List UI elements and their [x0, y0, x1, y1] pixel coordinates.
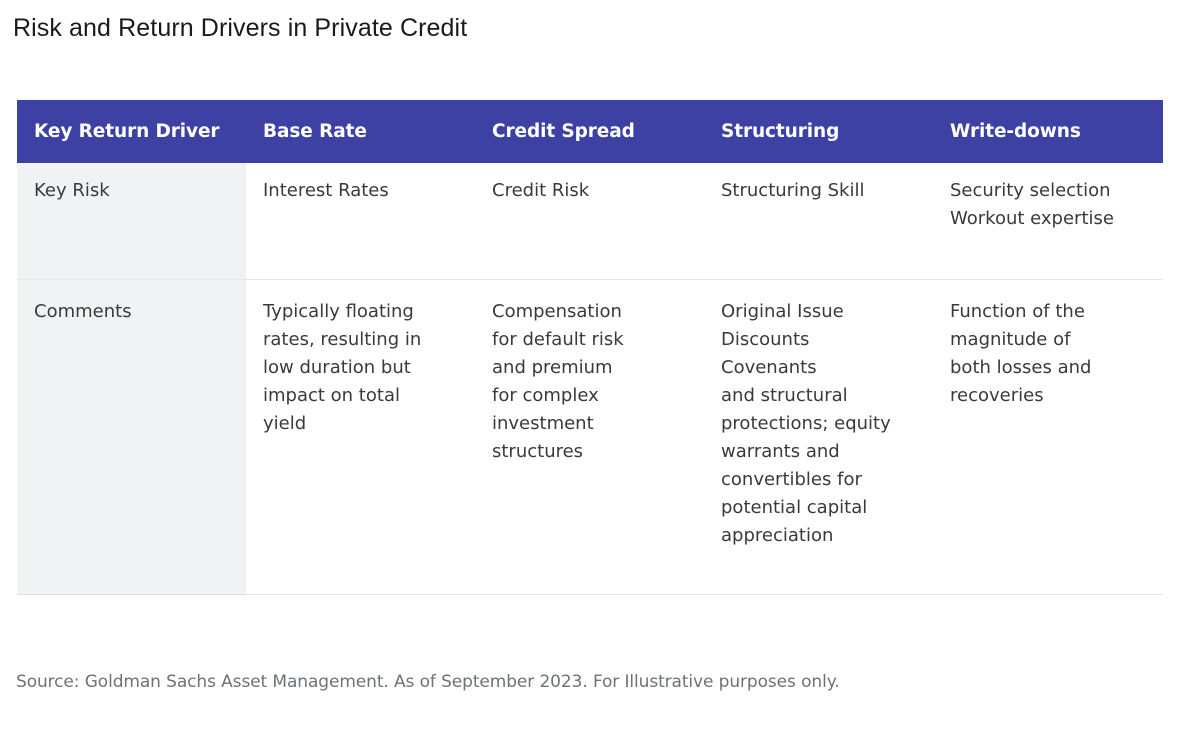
- cell-comments-base-rate: Typically floating rates, resulting in l…: [246, 280, 475, 595]
- column-header-credit-spread: Credit Spread: [475, 100, 704, 163]
- cell-line: impact on total: [263, 382, 453, 410]
- column-header-structuring: Structuring: [704, 100, 933, 163]
- cell-line: Workout expertise: [950, 205, 1141, 233]
- cell-comments-structuring: Original Issue Discounts Covenants and s…: [704, 280, 933, 595]
- cell-line: and premium: [492, 354, 682, 382]
- page-title: Risk and Return Drivers in Private Credi…: [13, 14, 467, 43]
- risk-return-table-container: Key Return Driver Base Rate Credit Sprea…: [17, 100, 1163, 595]
- cell-key-risk-structuring: Structuring Skill: [704, 163, 933, 280]
- cell-line: convertibles for: [721, 466, 911, 494]
- cell-key-risk-base-rate: Interest Rates: [246, 163, 475, 280]
- risk-return-table: Key Return Driver Base Rate Credit Sprea…: [17, 100, 1163, 595]
- slide-page: Risk and Return Drivers in Private Credi…: [0, 0, 1200, 741]
- table-header-row: Key Return Driver Base Rate Credit Sprea…: [17, 100, 1163, 163]
- table-row-key-risk: Key Risk Interest Rates Credit Risk Stru…: [17, 163, 1163, 280]
- table-header: Key Return Driver Base Rate Credit Sprea…: [17, 100, 1163, 163]
- cell-line: yield: [263, 410, 453, 438]
- table-body: Key Risk Interest Rates Credit Risk Stru…: [17, 163, 1163, 595]
- cell-line: low duration but: [263, 354, 453, 382]
- column-header-key-return-driver: Key Return Driver: [17, 100, 246, 163]
- cell-line: and structural: [721, 382, 911, 410]
- column-header-write-downs: Write-downs: [933, 100, 1163, 163]
- cell-line: warrants and: [721, 438, 911, 466]
- source-note: Source: Goldman Sachs Asset Management. …: [16, 672, 840, 692]
- cell-line: protections; equity: [721, 410, 911, 438]
- cell-comments-write-downs: Function of the magnitude of both losses…: [933, 280, 1163, 595]
- cell-line: Credit Risk: [492, 177, 682, 205]
- cell-line: magnitude of: [950, 326, 1141, 354]
- cell-line: potential capital: [721, 494, 911, 522]
- cell-line: Compensation: [492, 298, 682, 326]
- cell-key-risk-write-downs: Security selection Workout expertise: [933, 163, 1163, 280]
- column-header-base-rate: Base Rate: [246, 100, 475, 163]
- cell-line: recoveries: [950, 382, 1141, 410]
- cell-line: structures: [492, 438, 682, 466]
- cell-line: for complex: [492, 382, 682, 410]
- cell-line: Covenants: [721, 354, 911, 382]
- cell-line: Interest Rates: [263, 177, 453, 205]
- cell-key-risk-credit-spread: Credit Risk: [475, 163, 704, 280]
- cell-line: Structuring Skill: [721, 177, 911, 205]
- cell-comments-credit-spread: Compensation for default risk and premiu…: [475, 280, 704, 595]
- cell-line: investment: [492, 410, 682, 438]
- row-label-comments: Comments: [17, 280, 246, 595]
- cell-line: Security selection: [950, 177, 1141, 205]
- cell-line: Original Issue: [721, 298, 911, 326]
- table-row-comments: Comments Typically floating rates, resul…: [17, 280, 1163, 595]
- cell-line: for default risk: [492, 326, 682, 354]
- cell-line: appreciation: [721, 522, 911, 550]
- cell-line: Function of the: [950, 298, 1141, 326]
- cell-line: Discounts: [721, 326, 911, 354]
- cell-line: both losses and: [950, 354, 1141, 382]
- row-label-key-risk: Key Risk: [17, 163, 246, 280]
- cell-line: rates, resulting in: [263, 326, 453, 354]
- cell-line: Typically floating: [263, 298, 453, 326]
